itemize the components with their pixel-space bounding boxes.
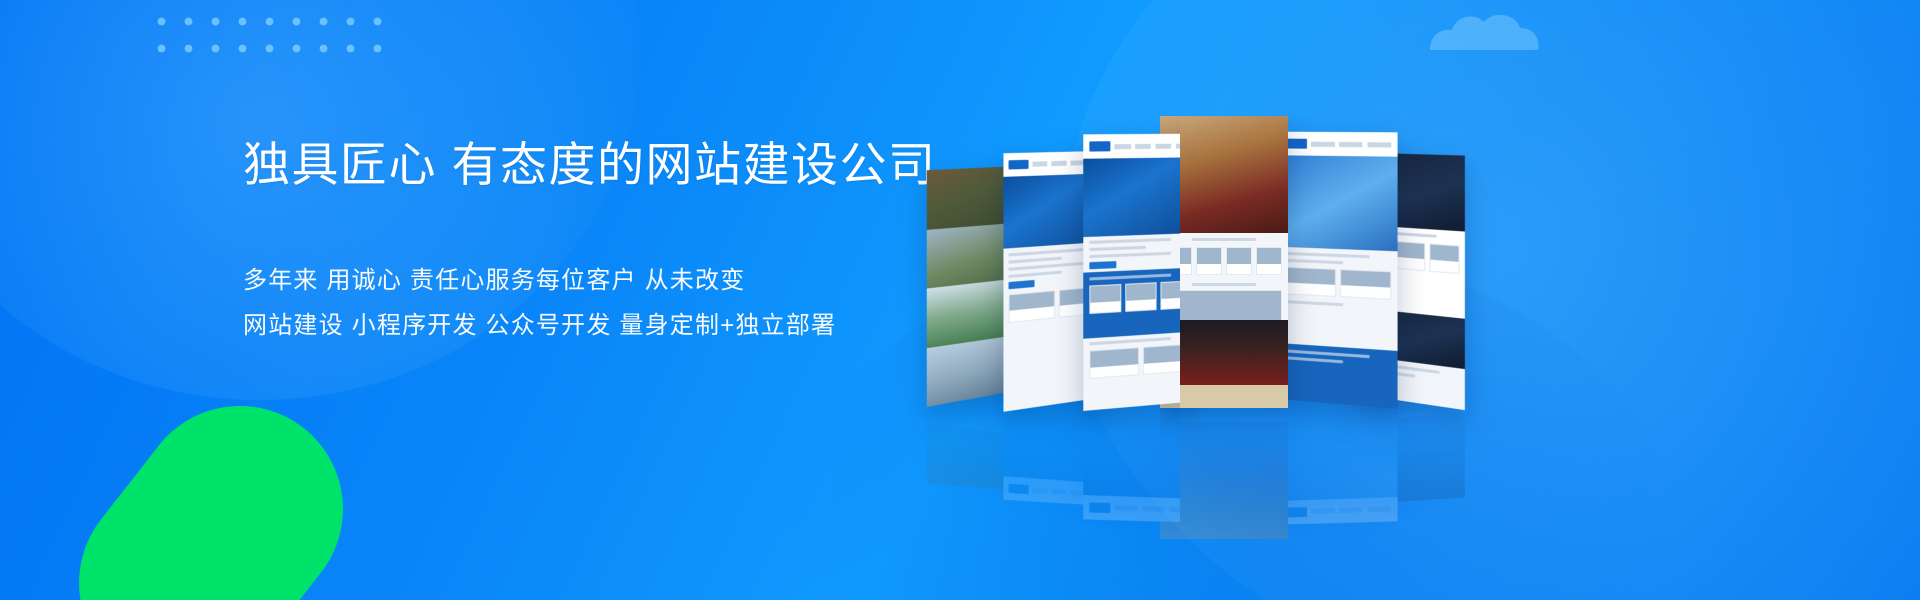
cloud-icon bbox=[1424, 6, 1544, 52]
hero-subtitle-1: 多年来 用诚心 责任心服务每位客户 从未改变 bbox=[243, 269, 903, 293]
collage-panel-auditorium bbox=[1160, 116, 1288, 408]
dot-grid-icon bbox=[148, 8, 382, 54]
hero-subtitle-2: 网站建设 小程序开发 公众号开发 量身定制+独立部署 bbox=[243, 314, 903, 338]
collage-reflection bbox=[905, 395, 1465, 545]
hero-subtitles: 多年来 用诚心 责任心服务每位客户 从未改变 网站建设 小程序开发 公众号开发 … bbox=[243, 269, 903, 338]
page-title: 独具匠心 有态度的网站建设公司 bbox=[243, 136, 903, 194]
collage-panel-illustration bbox=[1280, 132, 1397, 409]
hero-copy: 独具匠心 有态度的网站建设公司 多年来 用诚心 责任心服务每位客户 从未改变 网… bbox=[243, 136, 903, 338]
green-capsule-icon bbox=[37, 364, 384, 600]
website-screenshot-collage bbox=[905, 110, 1465, 410]
hero-banner: 独具匠心 有态度的网站建设公司 多年来 用诚心 责任心服务每位客户 从未改变 网… bbox=[0, 0, 1920, 600]
